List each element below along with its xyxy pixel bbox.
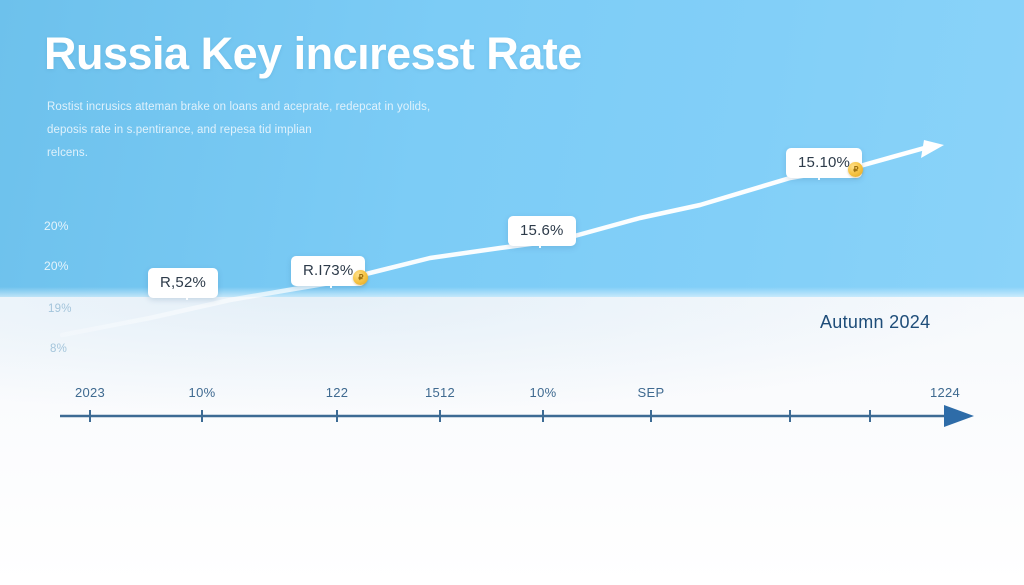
infographic-canvas: Russia Key incıresst Rate Rostist incrus…: [0, 0, 1024, 585]
season-caption: Autumn 2024: [820, 312, 930, 333]
callout-stem-2: [539, 246, 541, 248]
data-callout-label: 15.10%: [798, 154, 850, 171]
callout-stem-1: [330, 286, 332, 288]
data-callout-0[interactable]: R,52%: [148, 268, 218, 298]
x-tick-label-4: 10%: [530, 385, 557, 400]
data-callout-label: R,52%: [160, 274, 206, 291]
data-callout-2[interactable]: 15.6%: [508, 216, 576, 246]
x-tick-label-3: 1512: [425, 385, 455, 400]
callout-stem-3: [818, 178, 820, 180]
x-tick-label-5: SEP: [638, 385, 665, 400]
x-tick-label-0: 2023: [75, 385, 105, 400]
x-axis-arrowhead-icon: [944, 405, 974, 427]
x-tick-label-1: 10%: [189, 385, 216, 400]
x-tick-label-2: 122: [326, 385, 349, 400]
callout-stem-0: [186, 298, 188, 300]
data-callout-label: 15.6%: [520, 222, 564, 239]
x-axis-line: [0, 398, 1024, 434]
data-callout-label: R.I73%: [303, 262, 353, 279]
trend-line-arrowhead-icon: [921, 140, 944, 158]
x-tick-label-6: 1224: [930, 385, 960, 400]
